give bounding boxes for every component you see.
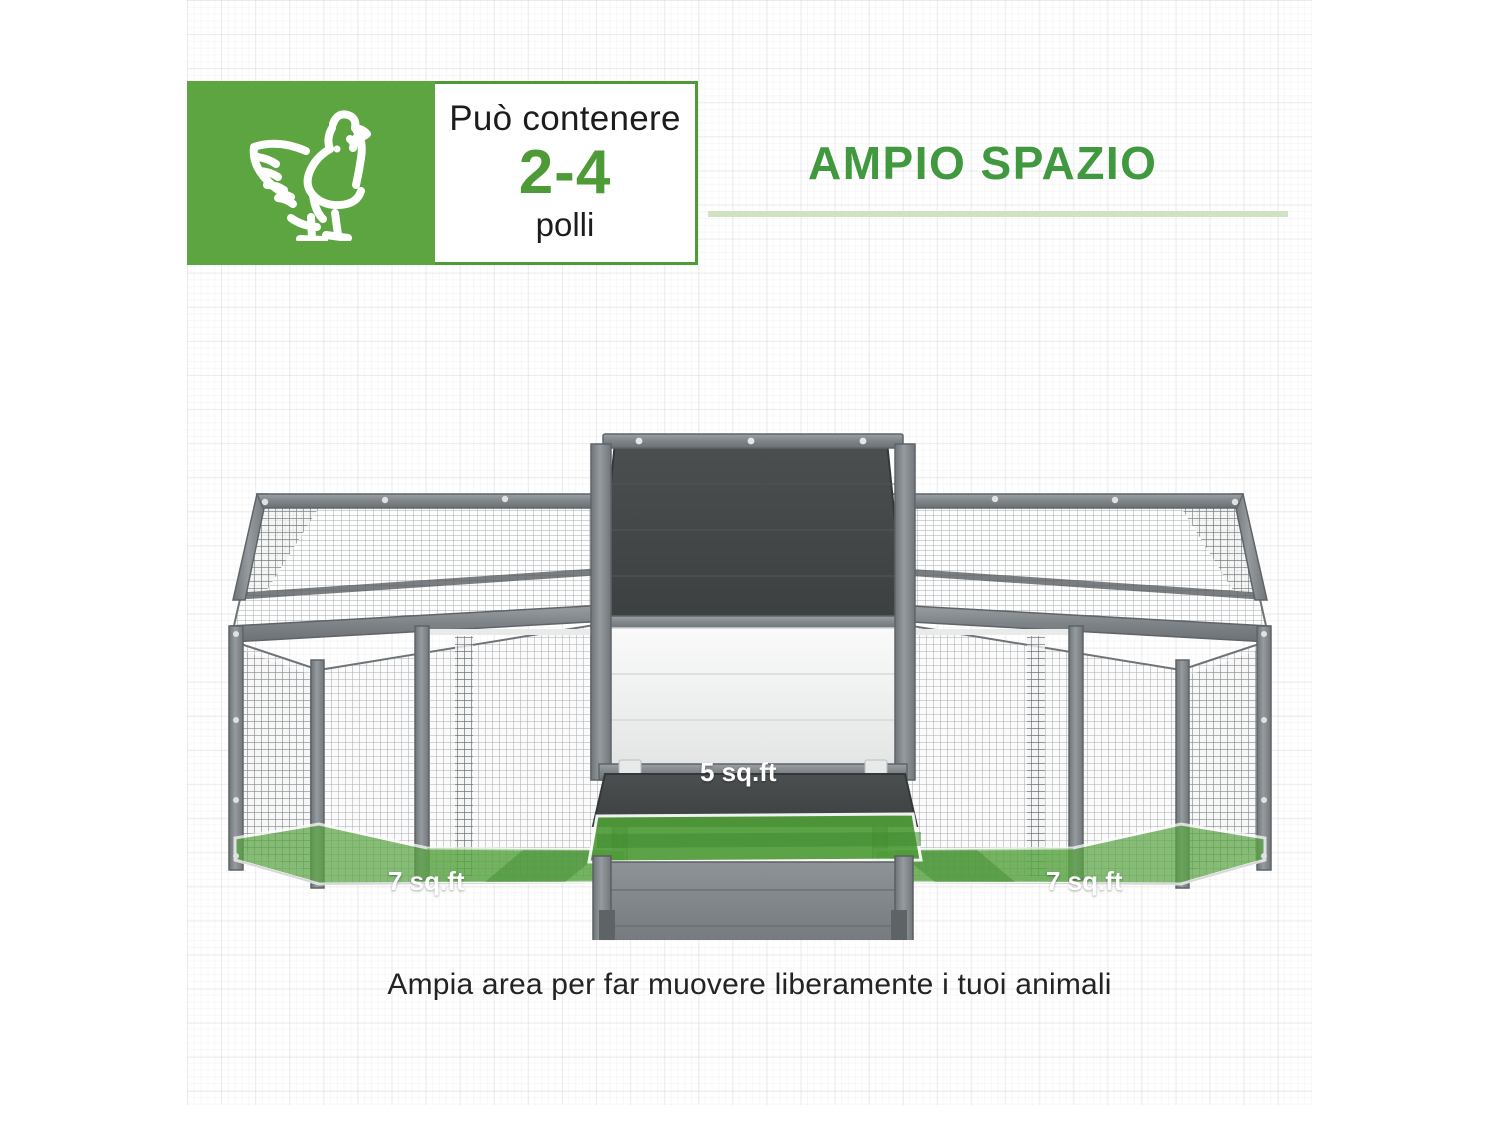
chicken-icon [236,101,386,246]
badge-text-panel: Può contenere 2-4 polli [435,81,698,265]
capacity-line-1: Può contenere [449,101,681,136]
coop-drawing [205,420,1295,940]
capacity-number: 2-4 [519,140,612,205]
page-title: AMPIO SPAZIO [808,140,1157,186]
caption-text: Ampia area per far muovere liberamente i… [187,968,1312,1002]
capacity-badge: Può contenere 2-4 polli [187,81,698,265]
badge-icon-panel [187,81,435,265]
infographic-canvas: Può contenere 2-4 polli AMPIO SPAZIO [0,0,1500,1125]
capacity-line-3: polli [536,208,595,241]
product-illustration [205,420,1295,940]
title-underline-rule [708,211,1288,217]
